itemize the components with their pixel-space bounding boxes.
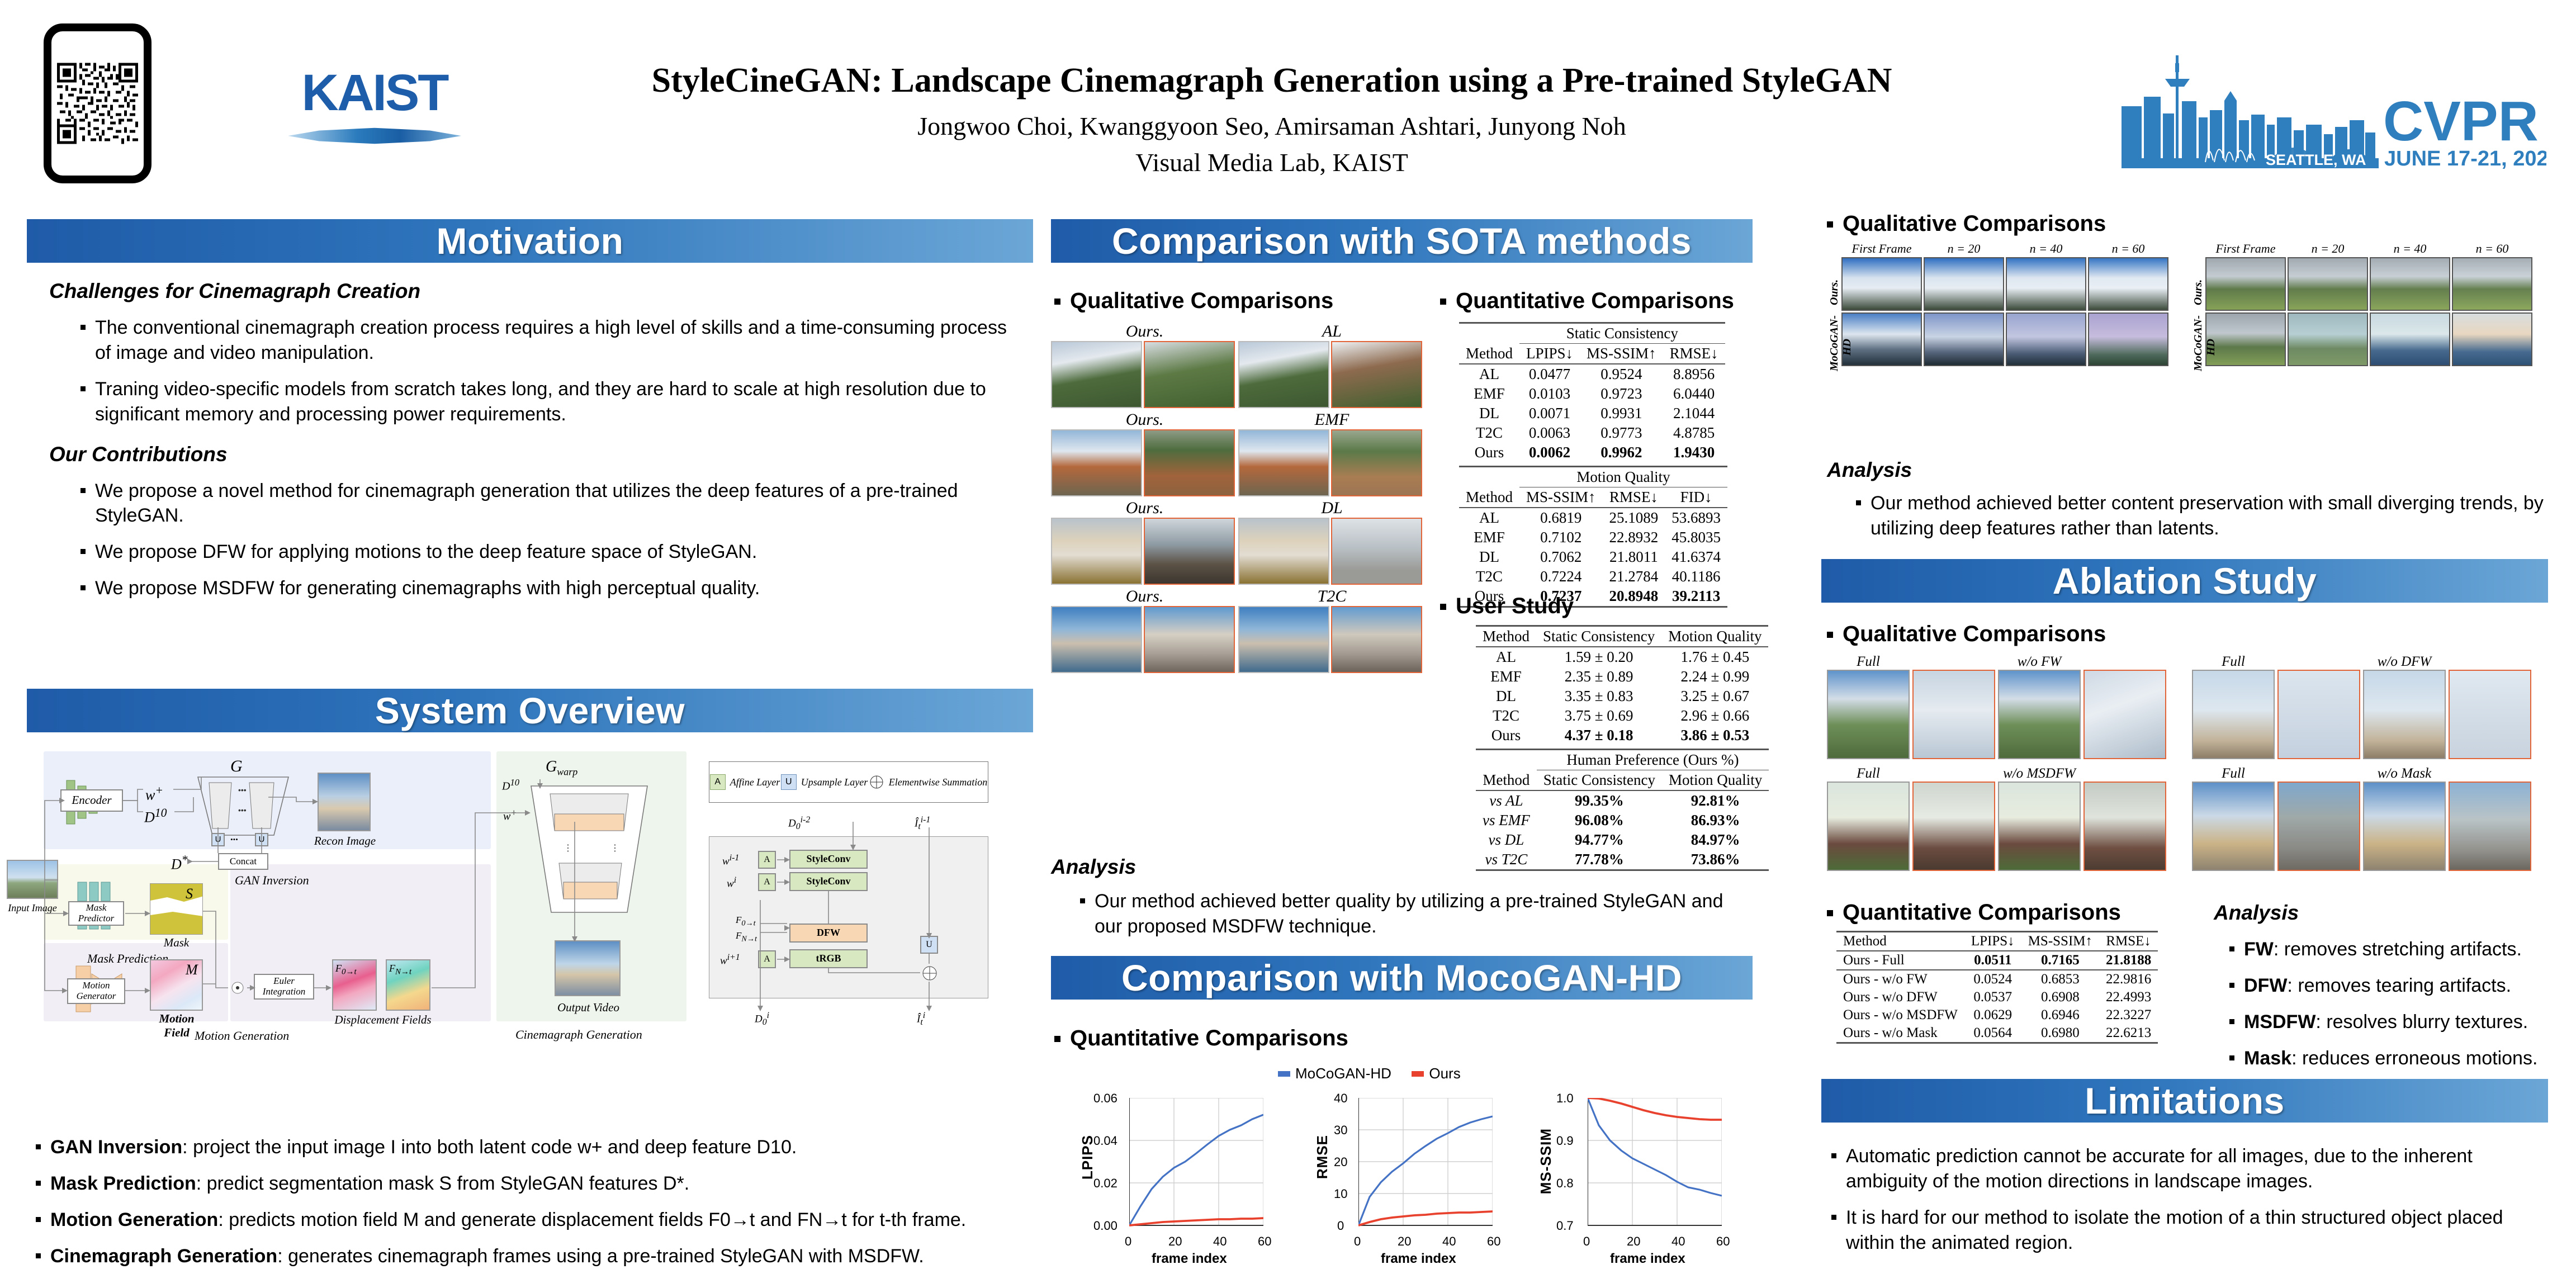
cell-value: 0.0063: [1519, 423, 1580, 443]
cell-value: 0.0564: [1964, 1024, 2021, 1043]
col-header: n = 20: [1924, 241, 2004, 256]
legend-swatch-ours: [1412, 1071, 1424, 1077]
cell-method: DL: [1476, 686, 1536, 706]
cell-value: 53.6893: [1665, 508, 1727, 528]
row-label-mocogan: MoCoGAN-HD: [2192, 323, 2218, 371]
sample-crop-image: [2277, 782, 2360, 871]
cell-method: T2C: [1459, 567, 1519, 586]
sample-crop-image: [1331, 341, 1422, 408]
cell-value: 0.6908: [2021, 988, 2099, 1006]
cell-method: vs AL: [1476, 790, 1537, 811]
pair-label-left: Full: [2192, 654, 2275, 670]
contributions-heading: Our Contributions: [49, 443, 1027, 466]
sample-frame: [2288, 312, 2368, 366]
col-header: Method: [1836, 932, 1964, 951]
sample-frame: [2452, 257, 2532, 311]
list-item: Our method achieved better quality by ut…: [1076, 889, 1744, 939]
sample-frame: [2288, 257, 2368, 311]
y-tick: 0.06: [1093, 1091, 1117, 1106]
cell-value: 39.2113: [1665, 586, 1727, 607]
sample-crop-image: [1144, 606, 1235, 673]
cell-method: Ours - w/o FW: [1836, 970, 1964, 988]
sample-crop-image: [1331, 429, 1422, 496]
x-tick: 60: [1487, 1234, 1500, 1249]
table-row: AL0.681925.108953.6893: [1459, 508, 1727, 528]
cell-method: Ours - w/o DFW: [1836, 988, 1964, 1006]
table-row: AL0.04770.95248.8956: [1459, 364, 1725, 384]
cell-value: 0.7062: [1519, 547, 1603, 567]
author-list: Jongwoo Choi, Kwanggyoon Seo, Amirsaman …: [503, 111, 2040, 141]
kaist-swoosh-graphic: [288, 126, 461, 145]
sample-image: [1238, 429, 1329, 496]
sample-crop-image: [2449, 782, 2531, 871]
pair-label-left: Ours.: [1051, 587, 1238, 606]
sample-frame: [2006, 312, 2086, 366]
col-header: First Frame: [1841, 241, 1922, 256]
sample-frame: [1841, 257, 1922, 311]
sample-crop-image: [2083, 670, 2166, 759]
ablation-table: Method LPIPS↓ MS-SSIM↑ RMSE↓ Ours - Full…: [1836, 931, 2158, 1044]
sample-frame: [2006, 257, 2086, 311]
cell-value: 0.9773: [1580, 423, 1663, 443]
cell-value: 86.93%: [1662, 811, 1769, 830]
cell-value: 0.9962: [1580, 443, 1663, 462]
legend-item-ours: Ours: [1412, 1065, 1460, 1082]
system-overview-bullets: GAN Inversion: project the input image I…: [31, 1135, 1038, 1280]
qr-code-icon: [57, 37, 138, 170]
list-item: Motion Generation: predicts motion field…: [31, 1207, 1038, 1233]
chart-rmse-plot: [1358, 1098, 1493, 1232]
x-tick: 20: [1627, 1234, 1640, 1249]
pair-label-left: Ours.: [1051, 499, 1238, 518]
banner-mocogan-label: Comparison with MocoGAN-HD: [1121, 956, 1682, 999]
bullet-bold-label: Mask Prediction: [50, 1173, 196, 1194]
right-analysis-section: Analysis Our method achieved better cont…: [1827, 458, 2554, 552]
sample-image: [2192, 782, 2275, 871]
banner-limitations: Limitations: [1821, 1079, 2548, 1123]
list-item: Automatic prediction cannot be accurate …: [1827, 1144, 2554, 1194]
pair-label-left: Ours.: [1051, 410, 1238, 429]
ablation-analysis-list: FW: removes stretching artifacts. DFW: r…: [2225, 937, 2560, 1071]
cell-value: 4.37 ± 0.18: [1536, 726, 1661, 745]
cell-value: 2.1044: [1663, 404, 1725, 423]
bullet-text: : removes stretching artifacts.: [2274, 939, 2522, 960]
bullet-bold-label: Motion Generation: [50, 1209, 218, 1230]
right-analysis-list: Our method achieved better content prese…: [1851, 491, 2554, 541]
cell-value: 99.35%: [1537, 790, 1662, 811]
cell-value: 22.8932: [1603, 528, 1665, 547]
sample-crop-image: [1912, 782, 1995, 871]
title-block: StyleCineGAN: Landscape Cinemagraph Gene…: [503, 61, 2040, 177]
cell-method: EMF: [1476, 667, 1536, 686]
qualitative-group-b: Ours. MoCoGAN-HD First Frame n = 20 n = …: [2191, 241, 2532, 366]
cell-value: 92.81%: [1662, 790, 1769, 811]
sample-crop-image: [2277, 670, 2360, 759]
cell-value: 8.8956: [1663, 364, 1725, 384]
bullet-bold-label: DFW: [2244, 975, 2287, 996]
chart-lpips: LPIPS 0.06 0.04 0.02 0.00 0 20 40 60 fra…: [1079, 1090, 1303, 1269]
legend-label: MoCoGAN-HD: [1295, 1065, 1391, 1082]
col-header: n = 60: [2452, 241, 2532, 256]
ablation-analysis-section: Analysis FW: removes stretching artifact…: [2214, 901, 2560, 1082]
col-header: n = 20: [2288, 241, 2368, 256]
bullet-text: : resolves blurry textures.: [2315, 1011, 2528, 1033]
sota-quantitative-tables: Static Consistency Method LPIPS↓ MS-SSIM…: [1459, 322, 1727, 608]
sample-image: [1827, 670, 1910, 759]
poster-header: KAIST StyleCineGAN: Landscape Cinemagrap…: [0, 0, 2576, 196]
qualitative-group-a: Ours. MoCoGAN-HD First Frame n = 20 n = …: [1827, 241, 2168, 366]
analysis-heading: Analysis: [2214, 901, 2560, 925]
chart-msssim-ylabel: MS-SSIM: [1537, 1128, 1555, 1194]
cell-value: 1.76 ± 0.45: [1661, 647, 1768, 667]
sample-crop-image: [1331, 606, 1422, 673]
table-group-header: Human Preference (Ours %): [1537, 750, 1769, 770]
cell-value: 22.9816: [2099, 970, 2158, 988]
sample-image: [1827, 782, 1910, 871]
y-tick: 1.0: [1556, 1091, 1574, 1106]
x-tick: 0: [1125, 1234, 1131, 1249]
cell-value: 3.86 ± 0.53: [1661, 726, 1768, 745]
x-tick: 20: [1398, 1234, 1411, 1249]
sample-image: [2363, 670, 2446, 759]
cell-value: 3.35 ± 0.83: [1536, 686, 1661, 706]
col-header: Method: [1459, 344, 1519, 364]
col-header: Static Consistency: [1537, 770, 1662, 791]
table-row: Ours - w/o Mask0.05640.698022.6213: [1836, 1024, 2158, 1043]
list-item: We propose MSDFW for generating cinemagr…: [76, 576, 1027, 601]
banner-system-overview: System Overview: [27, 689, 1033, 732]
sota-analysis-list: Our method achieved better quality by ut…: [1076, 889, 1744, 939]
affiliation: Visual Media Lab, KAIST: [503, 148, 2040, 177]
ablation-grid: Full . w/o FW . Full .: [1827, 654, 2554, 871]
cell-value: 2.24 ± 0.99: [1661, 667, 1768, 686]
row-label-mocogan: MoCoGAN-HD: [1828, 323, 1854, 371]
x-tick: 40: [1442, 1234, 1456, 1249]
cvpr-wordmark: CVPR: [2383, 90, 2539, 153]
col-header: First Frame: [2205, 241, 2286, 256]
y-tick: 0.9: [1556, 1134, 1574, 1148]
cell-value: 41.6374: [1665, 547, 1727, 567]
x-tick: 60: [1716, 1234, 1730, 1249]
banner-ablation-label: Ablation Study: [2053, 560, 2317, 602]
ablation-pair-fw: Full . w/o FW .: [1827, 654, 2166, 759]
bullet-bold-label: FW: [2244, 939, 2274, 960]
cell-value: 3.75 ± 0.69: [1536, 706, 1661, 726]
chart-lpips-xlabel: frame index: [1152, 1251, 1227, 1267]
list-item: Mask Prediction: predict segmentation ma…: [31, 1171, 1038, 1196]
kaist-logo: KAIST: [263, 67, 486, 145]
diagram-connectors: [34, 744, 1034, 1057]
banner-system-overview-label: System Overview: [375, 689, 685, 732]
banner-mocogan: Comparison with MocoGAN-HD: [1051, 956, 1753, 1000]
sample-crop-image: [1912, 670, 1995, 759]
sample-image: [2363, 782, 2446, 871]
cvpr-logo: SEATTLE, WA CVPR JUNE 17-21, 2024: [2122, 31, 2546, 182]
x-tick: 0: [1354, 1234, 1361, 1249]
cell-value: 22.3227: [2099, 1006, 2158, 1024]
analysis-heading: Analysis: [1051, 855, 1744, 879]
cell-value: 22.4993: [2099, 988, 2158, 1006]
list-item: FW: removes stretching artifacts.: [2225, 937, 2560, 962]
kaist-logo-text: KAIST: [263, 67, 486, 119]
system-overview-diagram: Input Image Encoder w+ D10 G ••• ••• U U…: [34, 744, 1034, 1101]
sota-qualitative-grid: Ours. AL Ours. EMF: [1051, 322, 1426, 673]
sample-frame: [2205, 257, 2286, 311]
ablation-pair-mask: Full . w/o Mask .: [2192, 766, 2531, 871]
pair-label-right: EMF: [1238, 410, 1426, 429]
cell-value: 0.6946: [2021, 1006, 2099, 1024]
cell-value: 0.0071: [1519, 404, 1580, 423]
cell-method: Ours: [1476, 726, 1536, 745]
human-preference-table: Human Preference (Ours %) Method Static …: [1476, 749, 1769, 871]
col-header: Static Consistency: [1536, 626, 1661, 647]
cell-method: Ours - Full: [1836, 951, 1964, 970]
cell-value: 25.1089: [1603, 508, 1665, 528]
cell-value: 0.0537: [1964, 988, 2021, 1006]
cell-method: T2C: [1459, 423, 1519, 443]
col-header: LPIPS↓: [1519, 344, 1580, 364]
sample-crop-image: [2449, 670, 2531, 759]
sample-image: [1998, 782, 2081, 871]
cell-value: 0.6980: [2021, 1024, 2099, 1043]
qr-code-badge[interactable]: [44, 23, 151, 183]
pair-label-right: w/o FW: [1998, 654, 2081, 670]
sota-quantitative-heading: Quantitative Comparisons: [1437, 288, 1734, 314]
bullet-text: : removes tearing artifacts.: [2287, 975, 2511, 996]
cell-value: 0.9931: [1580, 404, 1663, 423]
cell-value: 0.0524: [1964, 970, 2021, 988]
sample-frame: [2370, 312, 2450, 366]
sample-crop-image: [1144, 341, 1235, 408]
table-row: DL0.706221.801141.6374: [1459, 547, 1727, 567]
bullet-text: : predict segmentation mask S from Style…: [196, 1173, 689, 1194]
table-row: T2C0.00630.97734.8785: [1459, 423, 1725, 443]
challenges-list: The conventional cinemagraph creation pr…: [76, 315, 1027, 427]
banner-limitations-label: Limitations: [2085, 1079, 2285, 1122]
static-consistency-table: Static Consistency Method LPIPS↓ MS-SSIM…: [1459, 322, 1725, 462]
chart-msssim-xlabel: frame index: [1610, 1251, 1685, 1267]
cell-value: 1.9430: [1663, 443, 1725, 462]
sample-crop-image: [1331, 518, 1422, 585]
table-row: Ours - w/o DFW0.05370.690822.4993: [1836, 988, 2158, 1006]
right-qualitative-heading: Qualitative Comparisons: [1824, 211, 2106, 236]
y-tick: 20: [1334, 1155, 1347, 1169]
col-header: MS-SSIM↑: [1580, 344, 1663, 364]
cell-method: vs EMF: [1476, 811, 1537, 830]
col-header: FID↓: [1665, 487, 1727, 508]
sota-qualitative-heading: Qualitative Comparisons: [1051, 288, 1333, 314]
sample-crop-image: [2083, 782, 2166, 871]
cell-method: AL: [1459, 364, 1519, 384]
limitations-list: Automatic prediction cannot be accurate …: [1827, 1144, 2554, 1267]
col-header: RMSE↓: [2099, 932, 2158, 951]
cell-value: 45.8035: [1665, 528, 1727, 547]
chart-msssim: MS-SSIM 1.0 0.9 0.8 0.7 0 20 40 60 frame…: [1537, 1090, 1761, 1269]
pair-label-right: DL: [1238, 499, 1426, 518]
ablation-quantitative-heading: Quantitative Comparisons: [1824, 900, 2121, 925]
cell-method: vs DL: [1476, 830, 1537, 850]
legend-swatch-mocogan: [1278, 1071, 1290, 1077]
cell-value: 0.6853: [2021, 970, 2099, 988]
analysis-heading: Analysis: [1827, 458, 2554, 482]
cell-value: 40.1186: [1665, 567, 1727, 586]
table-row: DL0.00710.99312.1044: [1459, 404, 1725, 423]
col-header: Method: [1476, 626, 1536, 647]
sample-frame: [2088, 257, 2168, 311]
col-header: Motion Quality: [1662, 770, 1769, 791]
sample-frame: [1924, 257, 2004, 311]
ablation-pair-msdfw: Full . w/o MSDFW .: [1827, 766, 2166, 871]
col-header: Method: [1459, 487, 1519, 508]
sample-frame: [2370, 257, 2450, 311]
cvpr-date-label: JUNE 17-21, 2024: [2384, 147, 2546, 171]
challenges-heading: Challenges for Cinemagraph Creation: [49, 280, 1027, 303]
pair-label-left: Ours.: [1051, 322, 1238, 341]
sota-analysis-section: Analysis Our method achieved better qual…: [1051, 855, 1744, 950]
pair-label-right: w/o Mask: [2363, 766, 2446, 782]
sample-frame: [2452, 312, 2532, 366]
y-tick: 0.02: [1093, 1176, 1117, 1191]
y-tick: 0.00: [1093, 1219, 1117, 1233]
table-row: T2C3.75 ± 0.692.96 ± 0.66: [1476, 706, 1768, 726]
sample-image: [1238, 518, 1329, 585]
y-tick: 40: [1334, 1091, 1347, 1106]
bullet-bold-label: MSDFW: [2244, 1011, 2315, 1033]
y-tick: 30: [1334, 1123, 1347, 1138]
bullet-text: : predicts motion field M and generate d…: [218, 1209, 966, 1230]
list-item: We propose DFW for applying motions to t…: [76, 539, 1027, 565]
pair-label-right: AL: [1238, 322, 1426, 341]
cell-method: T2C: [1476, 706, 1536, 726]
page-title: StyleCineGAN: Landscape Cinemagraph Gene…: [503, 61, 2040, 100]
cvpr-city-label: SEATTLE, WA: [2266, 151, 2366, 168]
sample-crop-image: [1144, 429, 1235, 496]
cell-value: 1.59 ± 0.20: [1536, 647, 1661, 667]
x-tick: 40: [1213, 1234, 1227, 1249]
cell-method: EMF: [1459, 528, 1519, 547]
table-row: T2C0.722421.278440.1186: [1459, 567, 1727, 586]
chart-lpips-plot: [1129, 1098, 1263, 1232]
sample-image: [1238, 341, 1329, 408]
list-item: The conventional cinemagraph creation pr…: [76, 315, 1027, 366]
cell-method: DL: [1459, 547, 1519, 567]
sample-image: [2192, 670, 2275, 759]
sample-image: [1051, 341, 1142, 408]
list-item: DFW: removes tearing artifacts.: [2225, 973, 2560, 998]
pair-label-left: Full: [1827, 654, 1910, 670]
pair-label-left: Full: [2192, 766, 2275, 782]
list-item: GAN Inversion: project the input image I…: [31, 1135, 1038, 1160]
cell-method: EMF: [1459, 384, 1519, 404]
list-item: Cinemagraph Generation: generates cinema…: [31, 1244, 1038, 1269]
motion-quality-table: Motion Quality Method MS-SSIM↑ RMSE↓ FID…: [1459, 466, 1727, 608]
chart-msssim-plot: [1588, 1098, 1722, 1232]
cell-method: DL: [1459, 404, 1519, 423]
list-item: It is hard for our method to isolate the…: [1827, 1205, 2554, 1256]
cell-value: 0.0062: [1519, 443, 1580, 462]
table-row: DL3.35 ± 0.833.25 ± 0.67: [1476, 686, 1768, 706]
cell-method: Ours - w/o MSDFW: [1836, 1006, 1964, 1024]
col-header: LPIPS↓: [1964, 932, 2021, 951]
cell-value: 2.96 ± 0.66: [1661, 706, 1768, 726]
col-header: n = 60: [2088, 241, 2168, 256]
chart-legend: MoCoGAN-HD Ours: [1269, 1065, 1470, 1082]
x-tick: 60: [1258, 1234, 1271, 1249]
cell-method: Ours: [1459, 443, 1519, 462]
col-header: RMSE↓: [1663, 344, 1725, 364]
table-group-header: Motion Quality: [1519, 467, 1727, 487]
cell-value: 0.7224: [1519, 567, 1603, 586]
col-header: MS-SSIM↑: [2021, 932, 2099, 951]
sample-image: [1051, 518, 1142, 585]
cell-value: 0.9723: [1580, 384, 1663, 404]
cell-value: 6.0440: [1663, 384, 1725, 404]
table-row: AL1.59 ± 0.201.76 ± 0.45: [1476, 647, 1768, 667]
legend-item-mocogan: MoCoGAN-HD: [1278, 1065, 1391, 1082]
chart-rmse-ylabel: RMSE: [1314, 1135, 1331, 1179]
x-tick: 20: [1168, 1234, 1182, 1249]
x-tick: 40: [1671, 1234, 1685, 1249]
sample-image: [1051, 429, 1142, 496]
motivation-section: Challenges for Cinemagraph Creation The …: [49, 280, 1027, 612]
table-row: Ours4.37 ± 0.183.86 ± 0.53: [1476, 726, 1768, 745]
table-row: vs DL94.77%84.97%: [1476, 830, 1769, 850]
list-item: Our method achieved better content prese…: [1851, 491, 2554, 541]
table-row: vs AL99.35%92.81%: [1476, 790, 1769, 811]
table-row: Ours - Full 0.0511 0.7165 21.8188: [1836, 951, 2158, 970]
table-row: Ours - w/o MSDFW0.06290.694622.3227: [1836, 1006, 2158, 1024]
y-tick: 0.8: [1556, 1176, 1574, 1191]
sample-image: [1051, 606, 1142, 673]
cell-value: 96.08%: [1537, 811, 1662, 830]
cell-value: 22.6213: [2099, 1024, 2158, 1043]
cell-value: 0.9524: [1580, 364, 1663, 384]
table-row: EMF2.35 ± 0.892.24 ± 0.99: [1476, 667, 1768, 686]
cell-value: 0.0477: [1519, 364, 1580, 384]
user-study-heading: User Study: [1437, 594, 1574, 619]
list-item: MSDFW: resolves blurry textures.: [2225, 1010, 2560, 1035]
cell-value: 21.8188: [2099, 951, 2158, 970]
bullet-text: : project the input image I into both la…: [182, 1137, 797, 1158]
cell-value: 0.6819: [1519, 508, 1603, 528]
cell-value: 0.7102: [1519, 528, 1603, 547]
x-tick: 0: [1583, 1234, 1590, 1249]
col-header: RMSE↓: [1603, 487, 1665, 508]
user-study-tables: Method Static Consistency Motion Quality…: [1476, 625, 1769, 871]
banner-motivation-label: Motivation: [437, 220, 624, 262]
y-tick: 0: [1337, 1219, 1344, 1233]
banner-sota: Comparison with SOTA methods: [1051, 219, 1753, 263]
col-header: n = 40: [2370, 241, 2450, 256]
cell-value: 0.7165: [2021, 951, 2099, 970]
banner-motivation: Motivation: [27, 219, 1033, 263]
cell-value: 0.0511: [1964, 951, 2021, 970]
pair-label-left: Full: [1827, 766, 1910, 782]
pair-label-right: w/o DFW: [2363, 654, 2446, 670]
list-item: Traning video-specific models from scrat…: [76, 377, 1027, 427]
cell-value: 21.8011: [1603, 547, 1665, 567]
y-tick: 0.7: [1556, 1219, 1574, 1233]
banner-ablation: Ablation Study: [1821, 559, 2548, 603]
sample-image: [1238, 606, 1329, 673]
table-group-header: Static Consistency: [1519, 323, 1725, 344]
table-row: EMF0.710222.893245.8035: [1459, 528, 1727, 547]
cell-method: AL: [1459, 508, 1519, 528]
list-item: Mask: reduces erroneous motions.: [2225, 1046, 2560, 1071]
sample-crop-image: [1144, 518, 1235, 585]
cell-value: 3.25 ± 0.67: [1661, 686, 1768, 706]
cell-value: 0.0103: [1519, 384, 1580, 404]
